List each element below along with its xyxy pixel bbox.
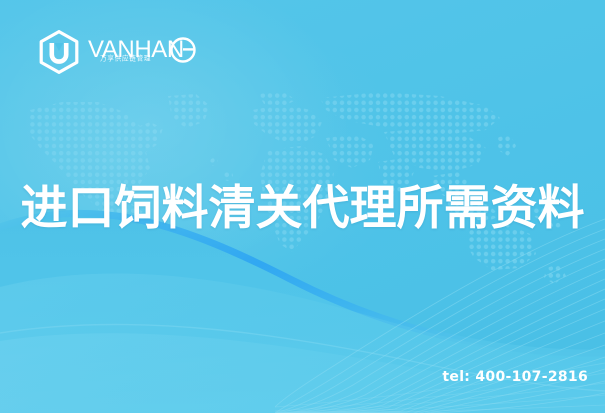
promo-banner: VANHAN 万享供应链管理 进口饲料清关代理所需资料 tel: 400-107… bbox=[0, 0, 605, 413]
brand-logo: VANHAN 万享供应链管理 bbox=[38, 29, 196, 75]
contact-phone: tel: 400-107-2816 bbox=[442, 369, 588, 385]
logo-subtitle: 万享供应链管理 bbox=[100, 54, 151, 64]
page-title: 进口饲料清关代理所需资料 bbox=[0, 181, 605, 237]
logo-text-block: VANHAN 万享供应链管理 bbox=[88, 30, 196, 74]
hexagon-u-logo-icon bbox=[38, 30, 80, 74]
